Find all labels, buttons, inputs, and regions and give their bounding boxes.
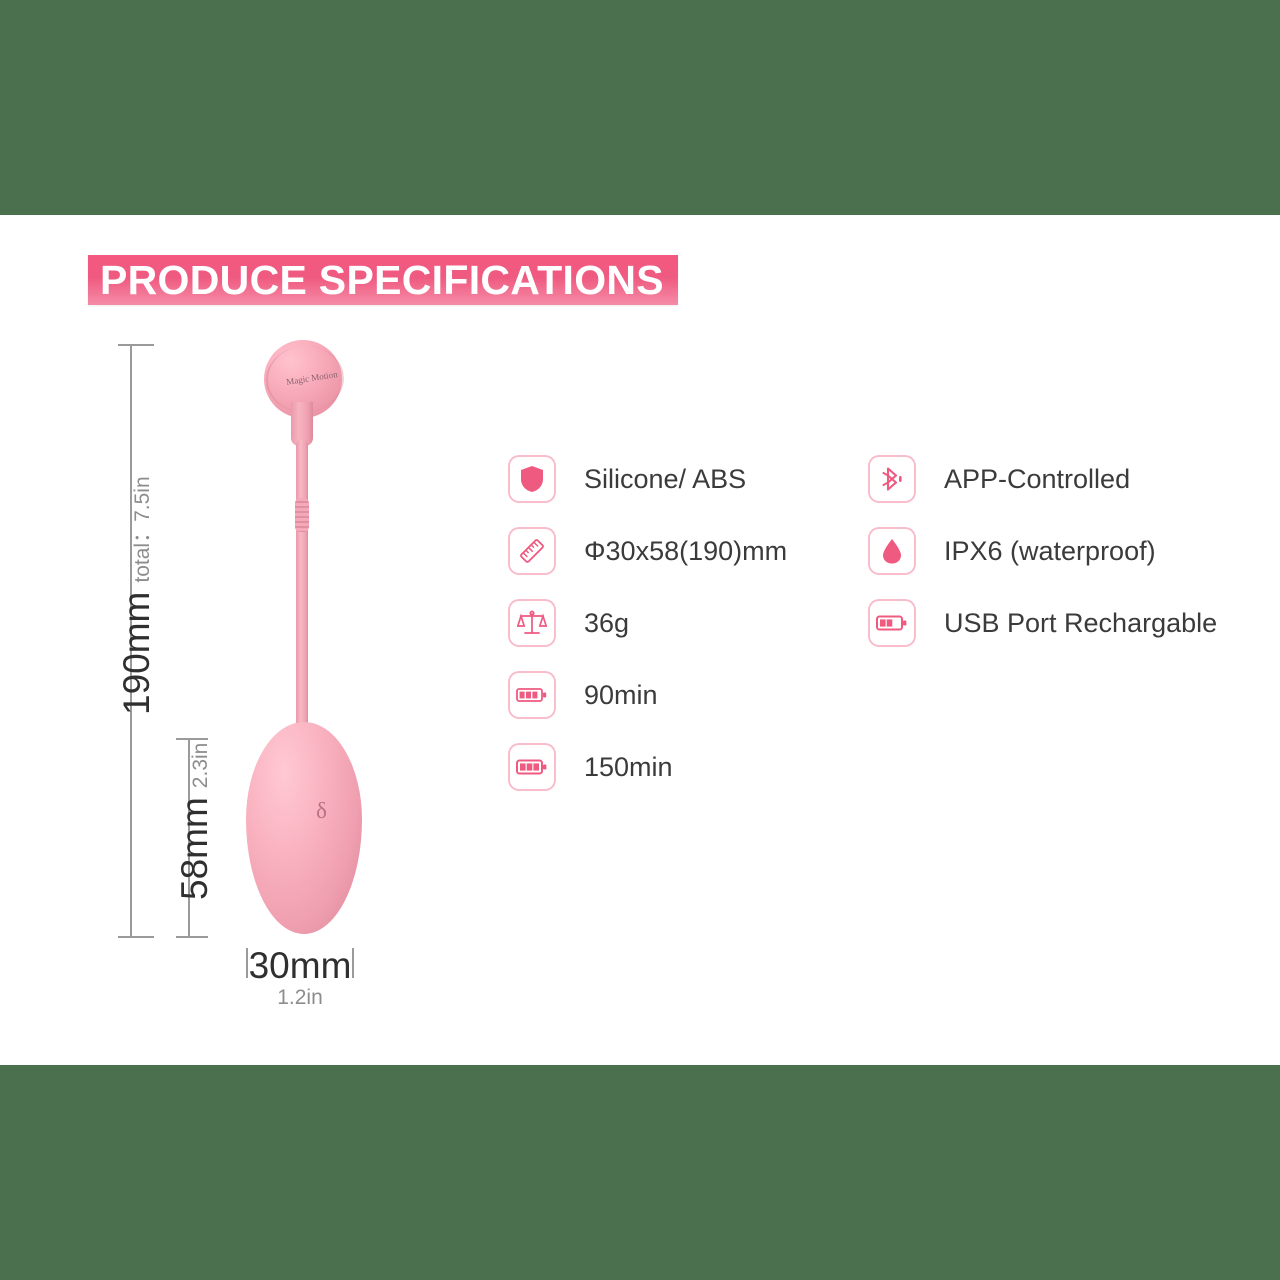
page-title-banner: PRODUCE SPECIFICATIONS xyxy=(88,255,678,305)
dim-190mm-top-cap xyxy=(118,344,154,346)
spec-item-app-control: APP-Controlled xyxy=(868,455,1217,503)
product-egg-body xyxy=(246,722,362,934)
page-title: PRODUCE SPECIFICATIONS xyxy=(100,260,664,301)
product-spec-page: PRODUCE SPECIFICATIONS Magic Motion δ 19… xyxy=(0,0,1280,1280)
dim-190mm-bottom-cap xyxy=(118,936,154,938)
spec-item-size-label: Φ30x58(190)mm xyxy=(584,538,787,565)
scale-icon xyxy=(508,599,556,647)
spec-item-charge-time: 150min xyxy=(508,743,787,791)
ruler-icon xyxy=(508,527,556,575)
spec-item-weight: 36g xyxy=(508,599,787,647)
dim-58mm-inches: 2.3in xyxy=(190,743,211,789)
dim-190mm-inches: total：7.5in xyxy=(132,476,153,582)
bottom-green-band xyxy=(0,1065,1280,1280)
spec-item-size: Φ30x58(190)mm xyxy=(508,527,787,575)
spec-item-waterproof-label: IPX6 (waterproof) xyxy=(944,538,1156,565)
spec-item-waterproof: IPX6 (waterproof) xyxy=(868,527,1217,575)
dim-30mm-label: 30mm 1.2in xyxy=(248,947,352,1008)
spec-item-material: Silicone/ ABS xyxy=(508,455,787,503)
spec-canvas: PRODUCE SPECIFICATIONS Magic Motion δ 19… xyxy=(0,215,1280,1065)
dim-190mm-label: 190mm total：7.5in xyxy=(118,476,155,715)
top-green-band xyxy=(0,0,1280,215)
spec-item-material-label: Silicone/ ABS xyxy=(584,466,746,493)
dim-58mm-bottom-cap xyxy=(176,936,208,938)
dim-58mm-value: 58mm xyxy=(176,797,213,900)
product-cord xyxy=(296,440,308,740)
dim-30mm-right-cap xyxy=(352,948,354,978)
water-drop-icon xyxy=(868,527,916,575)
battery-charge-icon xyxy=(508,743,556,791)
spec-item-usb-rechargable: USB Port Rechargable xyxy=(868,599,1217,647)
dim-58mm-label: 58mm 2.3in xyxy=(176,743,213,900)
dim-58mm-top-cap xyxy=(176,738,208,740)
dim-30mm-inches: 1.2in xyxy=(248,987,352,1008)
battery-usb-icon xyxy=(868,599,916,647)
shield-icon xyxy=(508,455,556,503)
spec-item-usage-time: 90min xyxy=(508,671,787,719)
spec-column-left: Silicone/ ABS xyxy=(508,455,787,815)
product-cord-ribs xyxy=(295,498,309,532)
spec-item-usage-time-label: 90min xyxy=(584,682,658,709)
product-illustration: Magic Motion δ xyxy=(236,340,396,940)
spec-item-charge-time-label: 150min xyxy=(584,754,673,781)
dim-30mm-value: 30mm xyxy=(248,947,352,984)
battery-usage-icon xyxy=(508,671,556,719)
spec-item-weight-label: 36g xyxy=(584,610,629,637)
spec-column-right: APP-Controlled IPX6 (waterproof) xyxy=(868,455,1217,671)
dim-190mm-value: 190mm xyxy=(118,592,155,715)
spec-item-app-control-label: APP-Controlled xyxy=(944,466,1130,493)
product-logo-mark: δ xyxy=(316,798,328,824)
bluetooth-icon xyxy=(868,455,916,503)
spec-item-usb-rechargable-label: USB Port Rechargable xyxy=(944,610,1217,637)
